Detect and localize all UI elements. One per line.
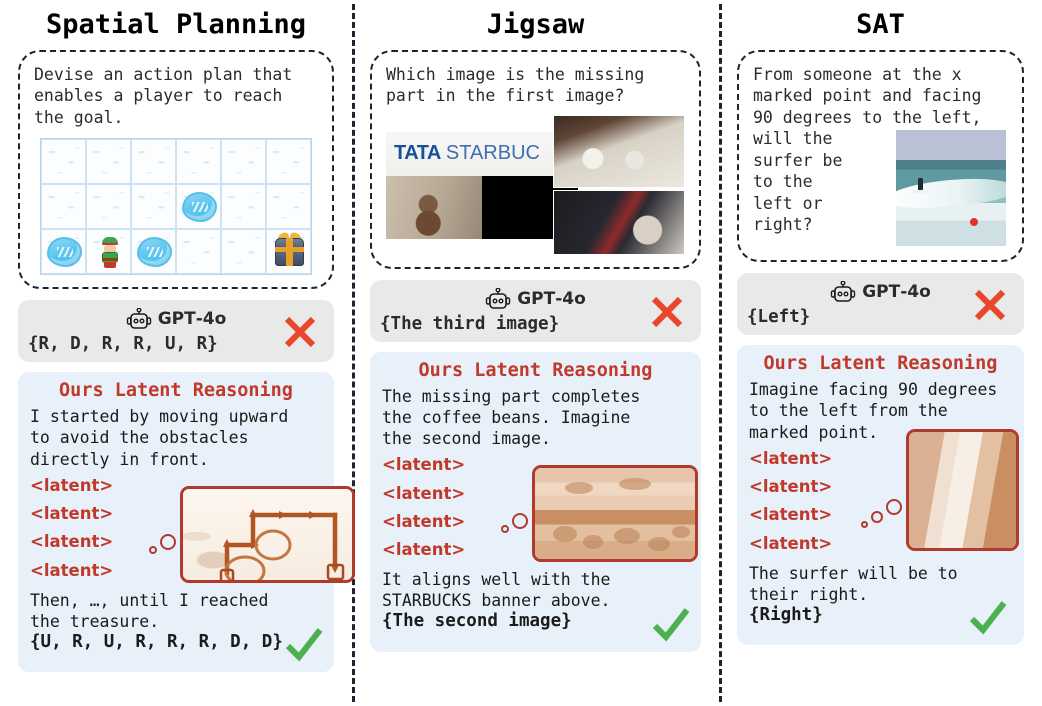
- grid-cell-player: [86, 229, 131, 274]
- ours-reasoning-text: I started by moving upward to avoid the …: [30, 406, 322, 469]
- question-card: From someone at the x marked point and f…: [737, 50, 1024, 262]
- latent-token-block: <latent> <latent> <latent> <latent>: [30, 472, 322, 590]
- grid-cell: [131, 139, 176, 184]
- column-jigsaw: Jigsaw Which image is the missing part i…: [352, 0, 719, 706]
- ours-final-answer: {U, R, U, R, R, R, D, D}: [30, 632, 322, 652]
- thought-bubble-medium: [871, 511, 883, 523]
- figure-root: Spatial Planning Devise an action plan t…: [0, 0, 1042, 706]
- grid-cell: [221, 139, 266, 184]
- grid-cell-goal: [266, 229, 311, 274]
- jigsaw-first-image: TATA STARBUC: [386, 132, 578, 239]
- grid-cell-obstacle: [176, 184, 221, 229]
- thought-bubble-small: [861, 521, 868, 528]
- ice-obstacle-icon: [182, 192, 217, 222]
- grid-cell: [176, 139, 221, 184]
- starbucks-banner: TATA STARBUC: [386, 132, 578, 176]
- surfboard: [913, 190, 931, 193]
- game-grid: [40, 138, 312, 275]
- robot-icon: [126, 308, 152, 330]
- sepia-coffee-beans: [535, 468, 695, 559]
- ours-panel-title: Ours Latent Reasoning: [749, 353, 1012, 374]
- jigsaw-candidate-2: [553, 190, 685, 255]
- question-card: Which image is the missing part in the f…: [370, 50, 701, 269]
- gpt-answer-text: {The third image}: [380, 314, 691, 334]
- ours-conclusion-text: Then, …, until I reached the treasure.: [30, 590, 322, 632]
- latent-token-block: <latent> <latent> <latent> <latent>: [749, 445, 1012, 563]
- sepia-surf-scene: [909, 432, 1016, 548]
- ours-panel: Ours Latent Reasoning The missing part c…: [370, 352, 701, 652]
- sat-question-body: will the surfer be to the left or right?: [753, 128, 1008, 248]
- grid-cell: [176, 229, 221, 274]
- ice-obstacle-icon: [137, 237, 172, 267]
- gpt-header: GPT‑4o: [28, 306, 324, 332]
- question-text: Devise an action plan that enables a pla…: [34, 64, 318, 128]
- question-text: Which image is the missing part in the f…: [386, 64, 685, 107]
- grid-cell: [221, 229, 266, 274]
- ours-panel: Ours Latent Reasoning I started by movin…: [18, 372, 334, 672]
- wave-shape: [896, 175, 1006, 212]
- ours-panel: Ours Latent Reasoning Imagine facing 90 …: [737, 345, 1024, 645]
- red-cross-icon: [649, 294, 685, 330]
- jigsaw-candidate-1: [553, 115, 685, 188]
- robot-icon: [485, 288, 511, 310]
- grid-image: [34, 138, 318, 275]
- column-title: SAT: [719, 0, 1042, 50]
- gpt-answer-bar: GPT‑4o {Left}: [737, 273, 1024, 335]
- latent-token-block: <latent> <latent> <latent> <latent>: [382, 451, 689, 569]
- red-cross-icon: [282, 314, 318, 350]
- x-marked-point: [970, 218, 978, 226]
- ours-panel-title: Ours Latent Reasoning: [30, 380, 322, 401]
- column-spatial-planning: Spatial Planning Devise an action plan t…: [0, 0, 352, 706]
- green-check-icon: [649, 602, 693, 646]
- brand-starbucks-text: STARBUC: [446, 142, 540, 165]
- ours-reasoning-text: The missing part completes the coffee be…: [382, 386, 689, 449]
- grid-cell: [86, 139, 131, 184]
- grid-cell-obstacle: [131, 229, 176, 274]
- gpt-model-name: GPT‑4o: [158, 309, 227, 329]
- green-check-icon: [282, 622, 326, 666]
- column-title: Jigsaw: [352, 0, 719, 50]
- green-check-icon: [966, 595, 1010, 639]
- red-cross-icon: [972, 287, 1008, 323]
- grid-cell: [266, 184, 311, 229]
- player-icon: [100, 237, 120, 268]
- treasure-chest-icon: [275, 238, 304, 266]
- gpt-answer-bar: GPT‑4o {The third image}: [370, 280, 701, 342]
- column-sat: SAT From someone at the x marked point a…: [719, 0, 1042, 706]
- ours-final-answer: {The second image}: [382, 611, 689, 631]
- thought-bubble-large: [886, 499, 902, 515]
- ours-conclusion-text: It aligns well with the STARBUCKS banner…: [382, 569, 689, 611]
- brand-tata-text: TATA: [394, 142, 441, 165]
- grid-cell: [266, 139, 311, 184]
- gpt-header: GPT‑4o: [380, 286, 691, 312]
- question-text-top: From someone at the x marked point and f…: [753, 64, 1008, 128]
- thought-bubble-large: [160, 534, 176, 550]
- gpt-model-name: GPT‑4o: [517, 289, 586, 309]
- grid-cell: [221, 184, 266, 229]
- grid-cell: [41, 139, 86, 184]
- latent-thought-image: [180, 486, 355, 583]
- latent-thought-image: [532, 465, 698, 562]
- jigsaw-images: TATA STARBUC: [386, 115, 685, 255]
- surfer-image: [896, 130, 1006, 246]
- robot-icon: [830, 281, 856, 303]
- ice-obstacle-icon: [47, 237, 82, 267]
- thought-bubble-small: [149, 546, 157, 554]
- grid-cell: [86, 184, 131, 229]
- ours-panel-title: Ours Latent Reasoning: [382, 360, 689, 381]
- gpt-model-name: GPT‑4o: [862, 282, 931, 302]
- gpt-answer-bar: GPT‑4o {R, D, R, R, U, R}: [18, 300, 334, 362]
- gpt-answer-text: {R, D, R, R, U, R}: [28, 334, 324, 354]
- column-title: Spatial Planning: [0, 0, 352, 50]
- question-card: Devise an action plan that enables a pla…: [18, 50, 334, 289]
- grid-cell-obstacle: [41, 229, 86, 274]
- grid-cell: [41, 184, 86, 229]
- sepia-path-map: [183, 489, 352, 580]
- latent-thought-image: [906, 429, 1019, 551]
- grid-cell: [131, 184, 176, 229]
